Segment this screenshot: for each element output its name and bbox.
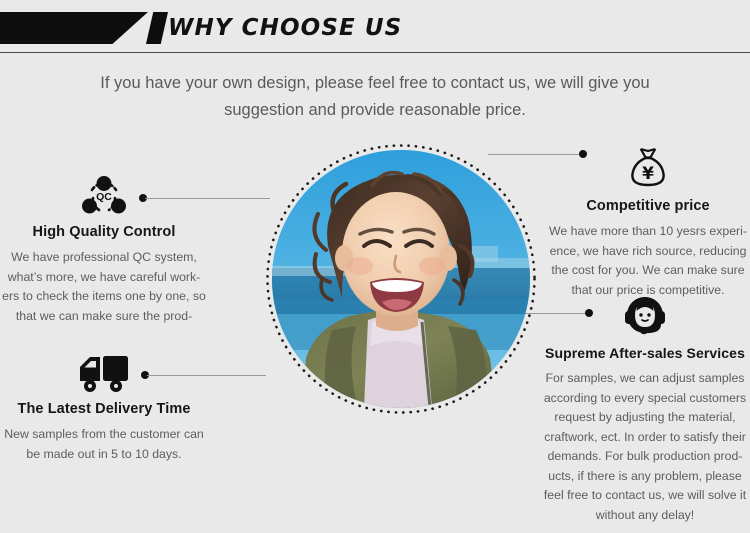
feature-body: New samples from the customer can be mad… bbox=[0, 425, 208, 464]
why-choose-us-page: WHY CHOOSE US If you have your own desig… bbox=[0, 0, 750, 533]
feature-title: High Quality Control bbox=[0, 222, 208, 242]
feature-delivery-time: The Latest Delivery Time New samples fro… bbox=[0, 355, 208, 464]
header-slash-accent bbox=[146, 12, 168, 44]
feature-title: Supreme After-sales Services bbox=[540, 343, 750, 363]
feature-quality-control: QC High Quality Control We have professi… bbox=[0, 176, 208, 326]
feature-body: We have more than 10 yesrs experi-ence, … bbox=[546, 222, 750, 300]
feature-body: We have professional QC system, what’s m… bbox=[0, 248, 208, 326]
header-divider bbox=[0, 52, 750, 53]
feature-title: The Latest Delivery Time bbox=[0, 399, 208, 419]
money-bag-currency-label: ¥ bbox=[642, 164, 654, 184]
center-image-circle bbox=[263, 141, 539, 417]
page-header: WHY CHOOSE US bbox=[0, 0, 750, 56]
feature-title: Competitive price bbox=[546, 196, 750, 216]
feature-body: For samples, we can adjust samples accor… bbox=[540, 369, 750, 525]
page-title: WHY CHOOSE US bbox=[168, 13, 402, 43]
money-bag-icon: ¥ bbox=[627, 148, 669, 190]
feature-competitive-price: ¥ Competitive price We have more than 10… bbox=[546, 148, 750, 300]
qc-icon-label: QC bbox=[96, 191, 112, 203]
child-photo-illustration bbox=[272, 150, 530, 408]
header-banner-bar bbox=[0, 12, 148, 44]
feature-after-sales-services: Supreme After-sales Services For samples… bbox=[540, 295, 750, 525]
delivery-truck-icon bbox=[78, 355, 130, 393]
headset-support-icon bbox=[623, 295, 667, 337]
qc-circles-icon: QC bbox=[82, 176, 126, 216]
child-photo bbox=[272, 150, 530, 408]
page-subtitle: If you have your own design, please feel… bbox=[75, 70, 675, 124]
